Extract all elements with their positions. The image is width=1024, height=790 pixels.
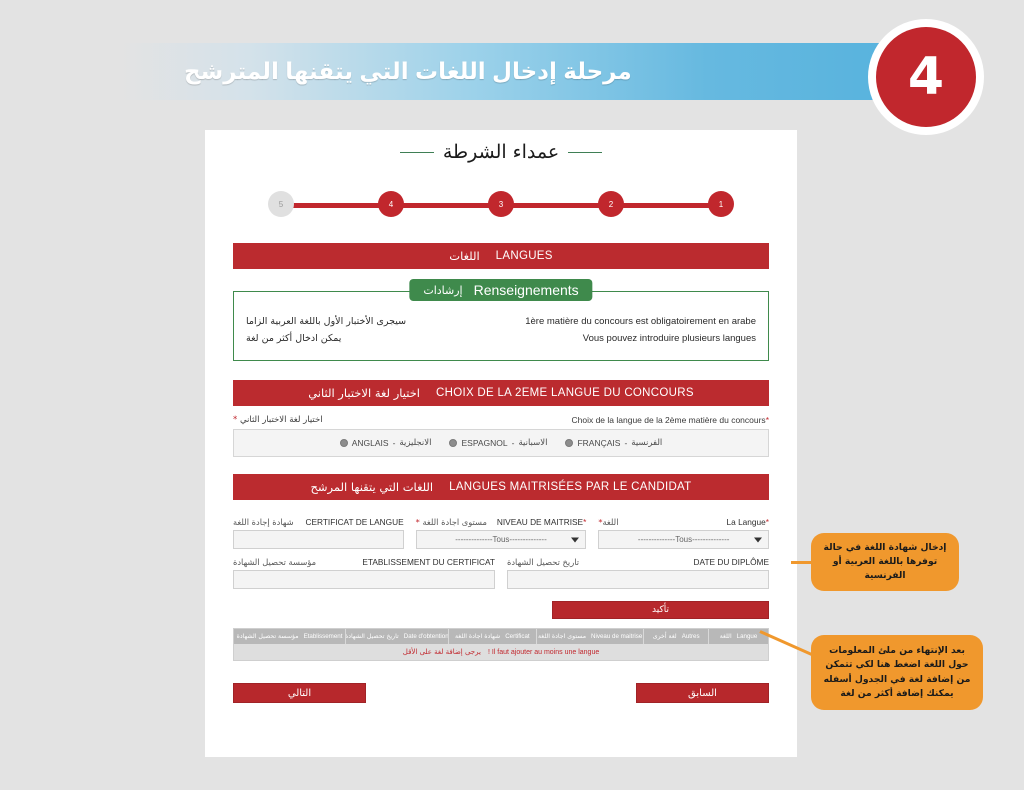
step-number-value: 4 xyxy=(876,27,976,127)
field-etablissement-label-ar: مؤسسة تحصيل الشهادة xyxy=(233,557,316,567)
input-certificat-langue[interactable] xyxy=(233,530,404,549)
field-niveau-label-fr: NIVEAU DE MAITRISE* xyxy=(497,517,586,527)
select-la-langue-value: --------------Tous-------------- xyxy=(638,535,730,544)
section-header-langues-maitrisees: LANGUES MAITRISÉES PAR LE CANDIDAT اللغا… xyxy=(233,474,769,500)
callout-confirm-note: بعد الإنتهاء من ملئ المعلومات حول اللغة … xyxy=(811,635,983,710)
section-header-choix-arabic: اختيار لغة الاختبار الثاني xyxy=(308,386,420,400)
field-niveau-label-ar-text: مستوى اجادة اللغة xyxy=(422,517,486,527)
radio-option-espagnol[interactable]: ESPAGNOL - الاسبانية xyxy=(449,438,547,448)
radio-option-francais-latin: FRANÇAIS xyxy=(577,438,620,448)
radio-option-espagnol-sep: - xyxy=(512,438,515,448)
field-niveau-req-fr: * xyxy=(583,517,586,527)
radio-dot-icon[interactable] xyxy=(449,439,457,447)
renseignements-body: 1ère matière du concours est obligatoire… xyxy=(233,291,769,361)
field-date-diplome-label-fr: DATE DU DIPLÔME xyxy=(694,557,769,567)
table-col-langue-latin: Langue xyxy=(737,633,758,640)
choix-langue-label-ar: اختيار لغة الاختبار الثاني * xyxy=(233,415,323,425)
languages-table-header: Langue اللغة Autres لغة أخرى Niveau de m… xyxy=(234,629,768,644)
choix-langue-label-ar-text: اختيار لغة الاختبار الثاني xyxy=(240,415,323,425)
field-etablissement-certificat: ETABLISSEMENT DU CERTIFICAT مؤسسة تحصيل … xyxy=(233,557,495,589)
radio-option-anglais[interactable]: ANGLAIS - الانجليزية xyxy=(340,438,432,448)
renseignements-row-2: Vous pouvez introduire plusieurs langues… xyxy=(246,331,756,348)
field-certificat-label-fr: CERTIFICAT DE LANGUE xyxy=(305,517,403,527)
title-dash-right xyxy=(400,152,434,153)
choix-langue-label-row: Choix de la langue de la 2ème matière du… xyxy=(233,415,769,425)
field-niveau-label-ar: مستوى اجادة اللغة * xyxy=(416,517,487,527)
table-col-niveau: Niveau de maitrise مستوى اجادة اللغة xyxy=(536,629,643,644)
table-col-niveau-arabic: مستوى اجادة اللغة xyxy=(538,633,586,640)
renseignements-legend-latin: Renseignements xyxy=(474,282,579,298)
field-certificat-label: CERTIFICAT DE LANGUE شهادة إجادة اللغة xyxy=(233,517,404,527)
radio-dot-icon[interactable] xyxy=(565,439,573,447)
radio-dot-icon[interactable] xyxy=(340,439,348,447)
section-header-choix-latin: CHOIX DE LA 2EME LANGUE DU CONCOURS xyxy=(436,387,694,399)
field-date-diplome-label-ar: تاريخ تحصيل الشهادة xyxy=(507,557,579,567)
table-col-etablissement-arabic: مؤسسة تحصيل الشهادة xyxy=(237,633,299,640)
slide-root: مرحلة إدخال اللغات التي يتقنها المترشح 4… xyxy=(0,0,1024,790)
table-col-autres-arabic: لغة أخرى xyxy=(653,633,677,640)
field-etablissement-label: ETABLISSEMENT DU CERTIFICAT مؤسسة تحصيل … xyxy=(233,557,495,567)
table-col-certificat: Certificat شهادة اجادة اللغة xyxy=(448,629,536,644)
page-title-text: عمداء الشرطة xyxy=(443,141,559,163)
languages-table: Langue اللغة Autres لغة أخرى Niveau de m… xyxy=(233,628,769,661)
table-col-niveau-latin: Niveau de maitrise xyxy=(591,633,642,640)
renseignements-fr-line-1: 1ère matière du concours est obligatoire… xyxy=(525,314,756,331)
page-title: عمداء الشرطة xyxy=(205,130,797,163)
table-col-date-arabic: تاريخ تحصيل الشهادة xyxy=(345,633,399,640)
section-header-langues: LANGUES اللغات xyxy=(233,243,769,269)
field-certificat-langue: CERTIFICAT DE LANGUE شهادة إجادة اللغة xyxy=(233,517,404,549)
radio-option-francais-sep: - xyxy=(624,438,627,448)
select-niveau-value: --------------Tous-------------- xyxy=(455,535,547,544)
wizard-stepper: 1 2 3 4 5 xyxy=(268,187,734,221)
renseignements-fr-line-2: Vous pouvez introduire plusieurs langues xyxy=(583,331,756,348)
renseignements-legend-arabic: إرشادات xyxy=(423,284,462,297)
field-la-langue: La Langue* اللغة* --------------Tous----… xyxy=(598,517,769,549)
table-col-date-obtention: Date d'obtention تاريخ تحصيل الشهادة xyxy=(345,629,448,644)
navigation-buttons: السابق التالي xyxy=(233,683,769,703)
chevron-down-icon[interactable] xyxy=(754,537,762,542)
table-col-autres-latin: Autres xyxy=(682,633,700,640)
table-col-etablissement: Etablissement مؤسسة تحصيل الشهادة xyxy=(234,629,345,644)
radio-option-espagnol-arabic: الاسبانية xyxy=(518,438,547,448)
confirm-button-row: تأكيد xyxy=(233,601,769,619)
field-niveau-label: NIVEAU DE MAITRISE* مستوى اجادة اللغة * xyxy=(416,517,587,527)
step-number-badge: 4 xyxy=(868,19,984,135)
renseignements-ar-line-1: سيجرى الأختبار الأول باللغة العربية الزا… xyxy=(246,314,406,331)
select-niveau-maitrise[interactable]: --------------Tous-------------- xyxy=(416,530,587,549)
field-la-langue-label-fr-text: La Langue xyxy=(727,517,766,527)
field-niveau-label-fr-text: NIVEAU DE MAITRISE xyxy=(497,517,583,527)
stepper-step-5[interactable]: 5 xyxy=(268,191,294,217)
field-la-langue-label: La Langue* اللغة* xyxy=(598,517,769,527)
stepper-step-3[interactable]: 3 xyxy=(488,191,514,217)
table-empty-message-fr: Il faut ajouter au moins une langue ! xyxy=(488,649,599,656)
table-col-autres: Autres لغة أخرى xyxy=(643,629,708,644)
form-row-2: DATE DU DIPLÔME تاريخ تحصيل الشهادة ETAB… xyxy=(233,557,769,589)
field-la-langue-label-ar-text: اللغة xyxy=(602,517,618,527)
next-button[interactable]: التالي xyxy=(233,683,366,703)
select-la-langue[interactable]: --------------Tous-------------- xyxy=(598,530,769,549)
radio-option-anglais-arabic: الانجليزية xyxy=(399,438,431,448)
section-header-maitrisees-arabic: اللغات التي يتقنها المرشح xyxy=(311,480,434,494)
table-col-etablissement-latin: Etablissement xyxy=(304,633,343,640)
form-row-1: La Langue* اللغة* --------------Tous----… xyxy=(233,517,769,549)
field-certificat-label-ar: شهادة إجادة اللغة xyxy=(233,517,294,527)
field-date-diplome-label: DATE DU DIPLÔME تاريخ تحصيل الشهادة xyxy=(507,557,769,567)
choix-langue-label-fr: Choix de la langue de la 2ème matière du… xyxy=(571,415,769,425)
chevron-down-icon[interactable] xyxy=(571,537,579,542)
radio-option-francais[interactable]: FRANÇAIS - الفرنسية xyxy=(565,438,662,448)
choix-langue-required-fr: * xyxy=(766,415,769,425)
renseignements-row-1: 1ère matière du concours est obligatoire… xyxy=(246,314,756,331)
field-niveau-maitrise: NIVEAU DE MAITRISE* مستوى اجادة اللغة * … xyxy=(416,517,587,549)
callout-certificate-note: إدخال شهادة اللغة في حالة توفرها باللغة … xyxy=(811,533,959,591)
table-col-certificat-arabic: شهادة اجادة اللغة xyxy=(455,633,500,640)
stepper-step-4[interactable]: 4 xyxy=(378,191,404,217)
field-la-langue-req-fr: * xyxy=(766,517,769,527)
renseignements-ar-line-2: يمكن ادخال أكثر من لغة xyxy=(246,331,341,348)
choix-langue-radio-group[interactable]: FRANÇAIS - الفرنسية ESPAGNOL - الاسبانية… xyxy=(233,429,769,457)
table-col-date-latin: Date d'obtention xyxy=(404,633,448,640)
renseignements-block: Renseignements إرشادات 1ère matière du c… xyxy=(233,291,769,361)
field-etablissement-label-fr: ETABLISSEMENT DU CERTIFICAT xyxy=(362,557,495,567)
previous-button[interactable]: السابق xyxy=(636,683,769,703)
table-col-certificat-latin: Certificat xyxy=(505,633,529,640)
section-header-langues-latin: LANGUES xyxy=(496,250,553,262)
section-header-maitrisees-latin: LANGUES MAITRISÉES PAR LE CANDIDAT xyxy=(449,481,691,493)
table-empty-message-ar: يرجى إضافة لغة على الأقل xyxy=(403,648,481,656)
stepper-step-1[interactable]: 1 xyxy=(708,191,734,217)
field-niveau-req-ar: * xyxy=(416,517,420,527)
table-col-langue-arabic: اللغة xyxy=(720,633,732,640)
language-entry-form: La Langue* اللغة* --------------Tous----… xyxy=(233,517,769,589)
section-header-langues-arabic: اللغات xyxy=(449,249,479,263)
table-empty-message: Il faut ajouter au moins une langue ! ير… xyxy=(234,644,768,660)
section-header-choix-langue: CHOIX DE LA 2EME LANGUE DU CONCOURS اختي… xyxy=(233,380,769,406)
title-dash-left xyxy=(568,152,602,153)
application-card: عمداء الشرطة 1 2 3 4 5 LANGUES اللغات Re… xyxy=(205,130,797,757)
field-date-diplome: DATE DU DIPLÔME تاريخ تحصيل الشهادة xyxy=(507,557,769,589)
stepper-nodes: 1 2 3 4 5 xyxy=(268,187,734,221)
radio-option-anglais-sep: - xyxy=(393,438,396,448)
input-etablissement-certificat[interactable] xyxy=(233,570,495,589)
field-la-langue-label-fr: La Langue* xyxy=(727,517,769,527)
radio-option-anglais-latin: ANGLAIS xyxy=(352,438,389,448)
confirm-button[interactable]: تأكيد xyxy=(552,601,769,619)
choix-langue-label-fr-text: Choix de la langue de la 2ème matière du… xyxy=(571,415,765,425)
radio-option-espagnol-latin: ESPAGNOL xyxy=(461,438,507,448)
radio-option-francais-arabic: الفرنسية xyxy=(631,438,662,448)
banner-title: مرحلة إدخال اللغات التي يتقنها المترشح xyxy=(170,43,830,100)
renseignements-legend: Renseignements إرشادات xyxy=(409,279,592,301)
field-la-langue-label-ar: اللغة* xyxy=(598,517,618,527)
choix-langue-required-ar: * xyxy=(233,415,237,425)
input-date-diplome[interactable] xyxy=(507,570,769,589)
stepper-step-2[interactable]: 2 xyxy=(598,191,624,217)
